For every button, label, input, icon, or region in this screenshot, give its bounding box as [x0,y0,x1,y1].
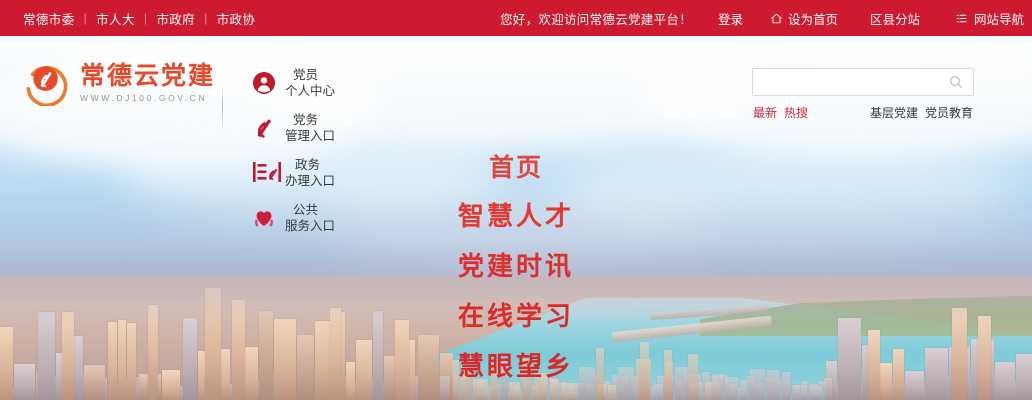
nav-item-huiyan-wangxiang[interactable]: 慧眼望乡 [0,346,1032,383]
hot-keyword-grassroots[interactable]: 基层党建 [870,106,918,120]
brand-name: 常德云党建 [80,63,215,89]
search-area: 最新热搜 基层党建党员教育 [752,68,974,122]
brand-text: 常德云党建 WWW.DJ100.GOV.CN [80,63,215,103]
entry-line1: 党员 [285,67,335,83]
search-box[interactable] [752,68,974,96]
separator: | [144,11,148,25]
site-nav-label: 网站导航 [974,9,1024,28]
entry-label: 党员 个人中心 [285,67,335,99]
brand-url: WWW.DJ100.GOV.CN [80,93,215,103]
hot-search-labels: 最新热搜 [753,104,808,121]
branch-sites-link[interactable]: 区县分站 [870,9,920,28]
site-header: 常德云党建 WWW.DJ100.GOV.CN 党员 个人中心 [0,36,1032,166]
entry-party-affairs-admin[interactable]: 党务 管理入口 [252,105,372,150]
nav-item-home[interactable]: 首页 [0,148,1032,184]
hot-keyword-list: 基层党建党员教育 [870,104,973,121]
separator: | [204,11,208,25]
hot-keyword-education[interactable]: 党员教育 [925,106,973,120]
gov-link-renda[interactable]: 市人大 [87,9,144,28]
building [793,385,807,400]
entry-party-member-center[interactable]: 党员 个人中心 [252,60,372,105]
label-latest[interactable]: 最新 [753,106,777,120]
menu-list-icon [955,12,968,25]
building [740,380,748,400]
entry-label: 党务 管理入口 [285,112,335,144]
header-divider [222,84,223,132]
entry-line1: 党务 [285,112,335,128]
brand-logo[interactable]: 常德云党建 WWW.DJ100.GOV.CN [24,60,215,106]
label-hot[interactable]: 热搜 [784,106,808,120]
hammer-sickle-icon [252,116,276,140]
entry-line2: 管理入口 [285,128,335,144]
party-emblem-icon [24,60,70,106]
login-link[interactable]: 登录 [718,9,743,28]
nav-item-online-learning[interactable]: 在线学习 [0,296,1032,333]
site-nav-button[interactable]: 网站导航 [955,9,1024,28]
building [809,386,822,400]
top-utility-bar: 常德市委 | 市人大 | 市政府 | 市政协 您好，欢迎访问常德云党建平台！ 登… [0,0,1032,36]
top-bar-right: 您好，欢迎访问常德云党建平台！ 登录 设为首页 区县分站 网站导航 [460,0,1032,36]
welcome-message: 您好，欢迎访问常德云党建平台！ [500,9,692,28]
nav-item-smart-talent[interactable]: 智慧人才 [0,196,1032,233]
entry-line2: 个人中心 [285,83,335,99]
nav-item-party-news[interactable]: 党建时讯 [0,246,1032,283]
set-homepage-label: 设为首页 [788,9,838,28]
gov-link-shiwei[interactable]: 常德市委 [14,9,84,28]
building [608,385,616,400]
set-homepage-button[interactable]: 设为首页 [770,9,838,28]
gov-link-zhengxie[interactable]: 市政协 [208,9,265,28]
search-icon[interactable] [948,74,964,90]
search-input[interactable] [753,69,943,95]
home-icon [770,12,783,25]
hot-search-row: 最新热搜 基层党建党员教育 [752,104,974,122]
gov-links: 常德市委 | 市人大 | 市政府 | 市政协 [14,0,264,36]
gov-link-shizhengfu[interactable]: 市政府 [147,9,204,28]
building [653,384,662,400]
building [510,382,520,400]
separator: | [84,11,88,25]
page-root: 常德市委 | 市人大 | 市政府 | 市政协 您好，欢迎访问常德云党建平台！ 登… [0,0,1032,400]
building [561,383,577,400]
user-circle-icon [252,71,276,95]
